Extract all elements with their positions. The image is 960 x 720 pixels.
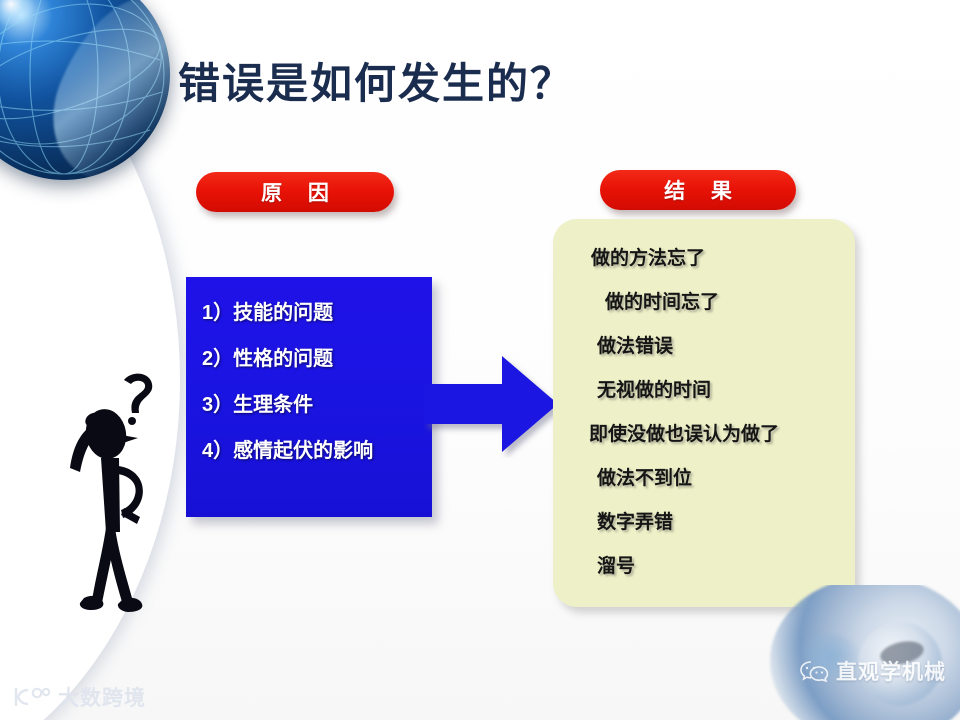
cause-item: 1）技能的问题: [202, 303, 432, 323]
result-box: 做的方法忘了 做的时间忘了 做法错误 无视做的时间 即使没做也误认为做了 做法不…: [553, 219, 855, 607]
result-item: 溜号: [597, 557, 855, 576]
wechat-icon: [799, 659, 829, 683]
confused-stick-figure-icon: [62, 362, 180, 624]
globe-sphere: [0, 0, 170, 180]
result-item: 做法不到位: [597, 469, 855, 488]
cause-box: 1）技能的问题 2）性格的问题 3）生理条件 4）感情起伏的影响: [186, 277, 432, 517]
faded-person-photo: [750, 585, 960, 720]
watermark-right-text: 直观学机械: [836, 656, 946, 686]
globe-graphic: [0, 0, 170, 180]
result-item: 即使没做也误认为做了: [589, 425, 855, 444]
result-label-pill[interactable]: 结 果: [600, 170, 796, 210]
watermark-right: 直观学机械: [799, 656, 946, 686]
cause-item: 4）感情起伏的影响: [202, 441, 432, 461]
result-item: 做的方法忘了: [591, 249, 855, 268]
result-item: 做法错误: [597, 337, 855, 356]
result-item: 数字弄错: [597, 513, 855, 532]
watermark-left-text: 大数跨境: [58, 682, 146, 712]
slide-canvas: 错误是如何发生的？ 原 因 结 果: [0, 0, 960, 720]
watermark-left: 大数跨境: [10, 682, 146, 712]
cause-label-pill[interactable]: 原 因: [196, 172, 394, 212]
result-item: 无视做的时间: [597, 381, 855, 400]
page-title: 错误是如何发生的？: [178, 50, 574, 111]
result-item: 做的时间忘了: [605, 293, 855, 312]
cause-item: 3）生理条件: [202, 395, 432, 415]
cause-item: 2）性格的问题: [202, 349, 432, 369]
dashukuajing-logo-icon: [10, 684, 50, 710]
right-arrow-icon: [424, 350, 560, 458]
